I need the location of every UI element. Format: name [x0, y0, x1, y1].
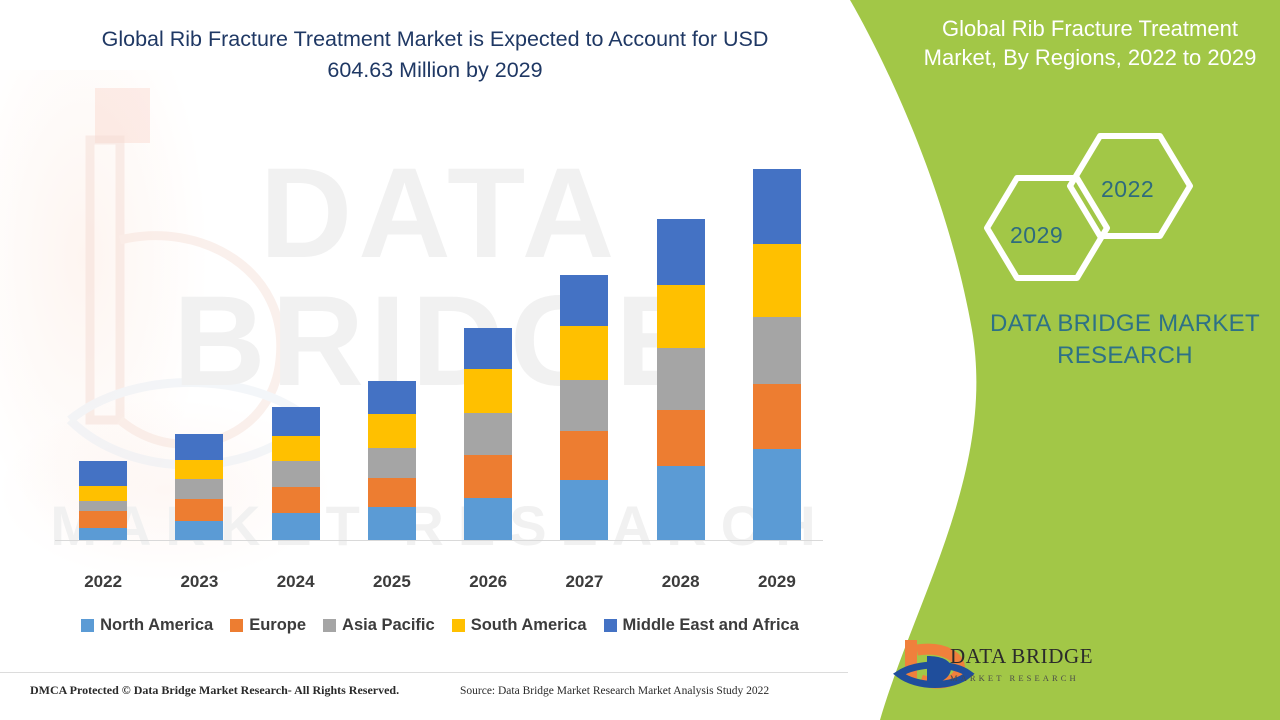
chart-segment	[560, 480, 608, 540]
chart-bar-column	[633, 140, 729, 540]
chart-bar-column	[729, 140, 825, 540]
chart-segment	[464, 498, 512, 540]
chart-bar-2027	[560, 275, 608, 540]
legend-swatch-icon	[604, 619, 617, 632]
infographic-root: DATA BRIDGE MARKET RESEARCH Global Rib F…	[0, 0, 1280, 720]
legend-label: Asia Pacific	[342, 616, 435, 635]
x-axis-label-2025: 2025	[344, 572, 440, 592]
chart-segment	[560, 380, 608, 431]
legend-swatch-icon	[81, 619, 94, 632]
chart-segment	[175, 479, 223, 499]
chart-segment	[79, 528, 127, 540]
hex-badge-label-2029: 2029	[1010, 222, 1063, 249]
hex-badge-label-2022: 2022	[1101, 176, 1154, 203]
footer-divider	[0, 672, 848, 673]
chart-bar-2022	[79, 461, 127, 540]
chart-segment	[368, 381, 416, 414]
x-axis-label-2023: 2023	[151, 572, 247, 592]
chart-segment	[272, 513, 320, 540]
chart-segment	[560, 326, 608, 380]
chart-bar-column	[248, 140, 344, 540]
chart-bar-column	[151, 140, 247, 540]
chart-bar-column	[440, 140, 536, 540]
brand-name: DATA BRIDGE MARKET RESEARCH	[960, 308, 1280, 373]
logo-wordmark-line-2: MARKET RESEARCH	[950, 673, 1110, 683]
legend-label: North America	[100, 616, 213, 635]
footer-source: Source: Data Bridge Market Research Mark…	[460, 685, 769, 697]
legend-swatch-icon	[323, 619, 336, 632]
chart-bar-2029	[753, 169, 801, 540]
legend-label: Europe	[249, 616, 306, 635]
stacked-bar-chart	[55, 150, 825, 560]
legend-label: Middle East and Africa	[623, 616, 799, 635]
chart-segment	[753, 449, 801, 540]
chart-segment	[175, 521, 223, 540]
hex-badges: 2022 2029	[975, 128, 1205, 293]
chart-segment	[753, 317, 801, 384]
legend-item[interactable]: South America	[452, 616, 587, 635]
chart-segment	[657, 410, 705, 466]
legend-item[interactable]: Middle East and Africa	[604, 616, 799, 635]
chart-segment	[657, 348, 705, 410]
chart-bars	[55, 140, 825, 540]
chart-segment	[79, 486, 127, 501]
hexagon-outline-icon	[975, 128, 1205, 293]
x-axis-label-2029: 2029	[729, 572, 825, 592]
chart-segment	[657, 466, 705, 540]
legend-item[interactable]: Asia Pacific	[323, 616, 435, 635]
chart-segment	[79, 461, 127, 486]
chart-segment	[79, 501, 127, 511]
page-title: Global Rib Fracture Treatment Market is …	[70, 24, 800, 86]
legend-item[interactable]: Europe	[230, 616, 306, 635]
chart-segment	[560, 275, 608, 326]
chart-segment	[175, 499, 223, 521]
chart-segment	[368, 448, 416, 478]
chart-bar-2026	[464, 328, 512, 540]
x-axis-label-2022: 2022	[55, 572, 151, 592]
chart-segment	[464, 455, 512, 498]
legend-swatch-icon	[230, 619, 243, 632]
chart-plot-area	[55, 150, 825, 550]
legend-swatch-icon	[452, 619, 465, 632]
chart-segment	[272, 461, 320, 487]
chart-bar-column	[536, 140, 632, 540]
chart-segment	[657, 285, 705, 348]
chart-segment	[464, 328, 512, 369]
chart-bar-column	[344, 140, 440, 540]
legend-item[interactable]: North America	[81, 616, 213, 635]
chart-segment	[272, 407, 320, 436]
chart-segment	[175, 434, 223, 460]
chart-x-axis-labels: 20222023202420252026202720282029	[55, 572, 825, 592]
chart-segment	[464, 369, 512, 413]
chart-legend: North AmericaEuropeAsia PacificSouth Ame…	[55, 616, 825, 635]
chart-segment	[560, 431, 608, 480]
chart-bar-2025	[368, 381, 416, 540]
x-axis-label-2028: 2028	[633, 572, 729, 592]
legend-label: South America	[471, 616, 587, 635]
chart-baseline-axis	[55, 540, 823, 541]
background-tint-square	[95, 88, 150, 143]
x-axis-label-2024: 2024	[248, 572, 344, 592]
chart-bar-2028	[657, 219, 705, 540]
chart-bar-2023	[175, 434, 223, 540]
chart-segment	[753, 169, 801, 244]
chart-segment	[272, 487, 320, 513]
chart-segment	[464, 413, 512, 455]
footer-copyright: DMCA Protected © Data Bridge Market Rese…	[30, 683, 399, 698]
chart-segment	[753, 384, 801, 449]
chart-bar-column	[55, 140, 151, 540]
chart-segment	[368, 478, 416, 507]
logo-wordmark: DATA BRIDGE MARKET RESEARCH	[950, 644, 1110, 683]
chart-segment	[753, 244, 801, 317]
chart-segment	[657, 219, 705, 285]
chart-segment	[272, 436, 320, 461]
logo-wordmark-line-1: DATA BRIDGE	[950, 644, 1110, 669]
panel-title: Global Rib Fracture Treatment Market, By…	[910, 14, 1270, 72]
chart-segment	[368, 507, 416, 540]
chart-segment	[368, 414, 416, 448]
x-axis-label-2026: 2026	[440, 572, 536, 592]
chart-segment	[175, 460, 223, 479]
x-axis-label-2027: 2027	[536, 572, 632, 592]
chart-bar-2024	[272, 407, 320, 540]
chart-segment	[79, 511, 127, 528]
